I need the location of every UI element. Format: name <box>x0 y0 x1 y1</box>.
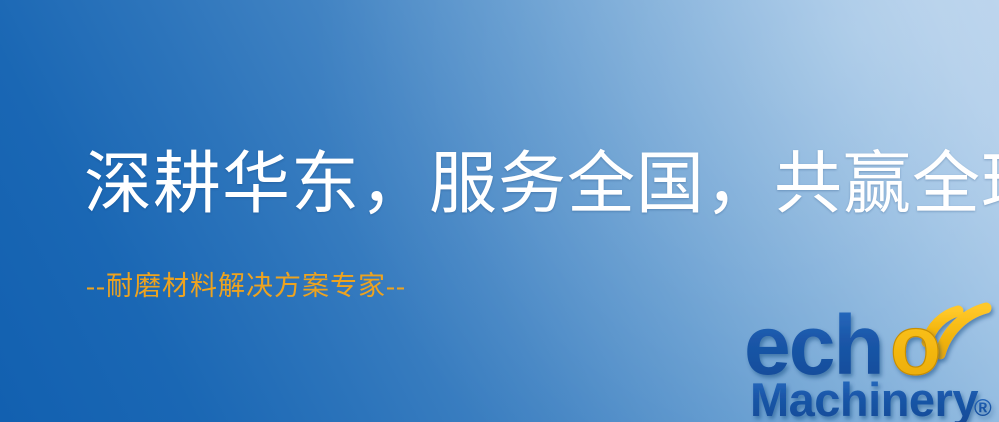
page-title: 深耕华东，服务全国，共赢全球 <box>84 148 999 221</box>
company-logo: ech o Machinery ® <box>742 292 999 422</box>
promo-banner: 深耕华东，服务全国，共赢全球 --耐磨材料解决方案专家-- <box>0 0 999 422</box>
logo-subtext: Machinery <box>750 373 978 422</box>
banner-subtitle: --耐磨材料解决方案专家-- <box>86 264 406 303</box>
registered-trademark-icon: ® <box>974 395 992 422</box>
